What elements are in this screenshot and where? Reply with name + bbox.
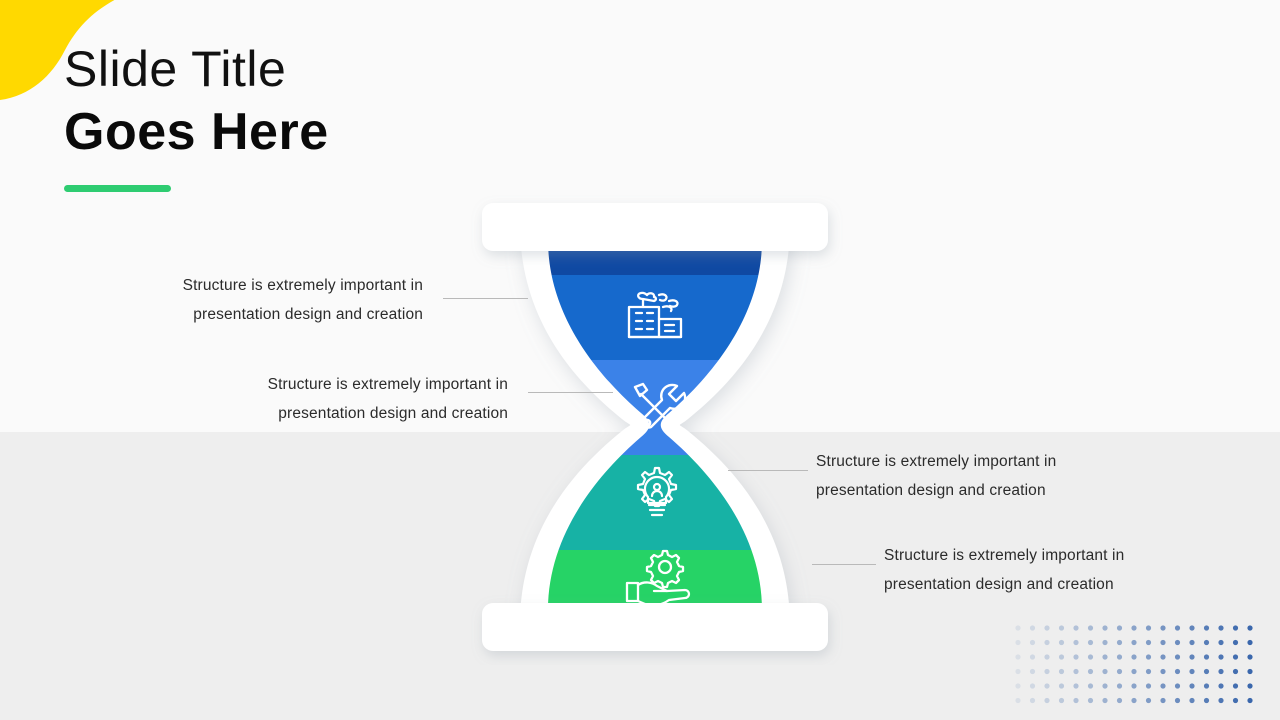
page-title-line-2: Goes Here [64, 102, 329, 163]
callout-2: Structure is extremely important in pres… [188, 371, 508, 428]
callout-3-line-1: Structure is extremely important in [816, 448, 1136, 477]
callout-2-line-2: presentation design and creation [188, 400, 508, 429]
connector-line-1 [443, 298, 528, 299]
connector-line-2 [528, 392, 613, 393]
callout-3: Structure is extremely important in pres… [816, 448, 1136, 505]
dot-grid-decoration [1012, 622, 1262, 712]
page-title-line-1: Slide Title [64, 42, 329, 96]
callout-2-line-1: Structure is extremely important in [188, 371, 508, 400]
callout-4-line-1: Structure is extremely important in [884, 542, 1204, 571]
callout-4-line-2: presentation design and creation [884, 571, 1204, 600]
connector-line-4 [812, 564, 876, 565]
hourglass-segments [515, 235, 795, 625]
callout-1-line-2: presentation design and creation [103, 301, 423, 330]
hourglass-bottom-cap [482, 603, 828, 651]
connector-line-3 [728, 470, 808, 471]
callout-3-line-2: presentation design and creation [816, 477, 1136, 506]
title-block: Slide Title Goes Here [64, 42, 329, 192]
callout-4: Structure is extremely important in pres… [884, 542, 1204, 599]
hourglass-top-cap [482, 203, 828, 251]
title-accent-rule [64, 185, 171, 192]
callout-1: Structure is extremely important in pres… [103, 272, 423, 329]
callout-1-line-1: Structure is extremely important in [103, 272, 423, 301]
hourglass-diagram [455, 185, 855, 665]
